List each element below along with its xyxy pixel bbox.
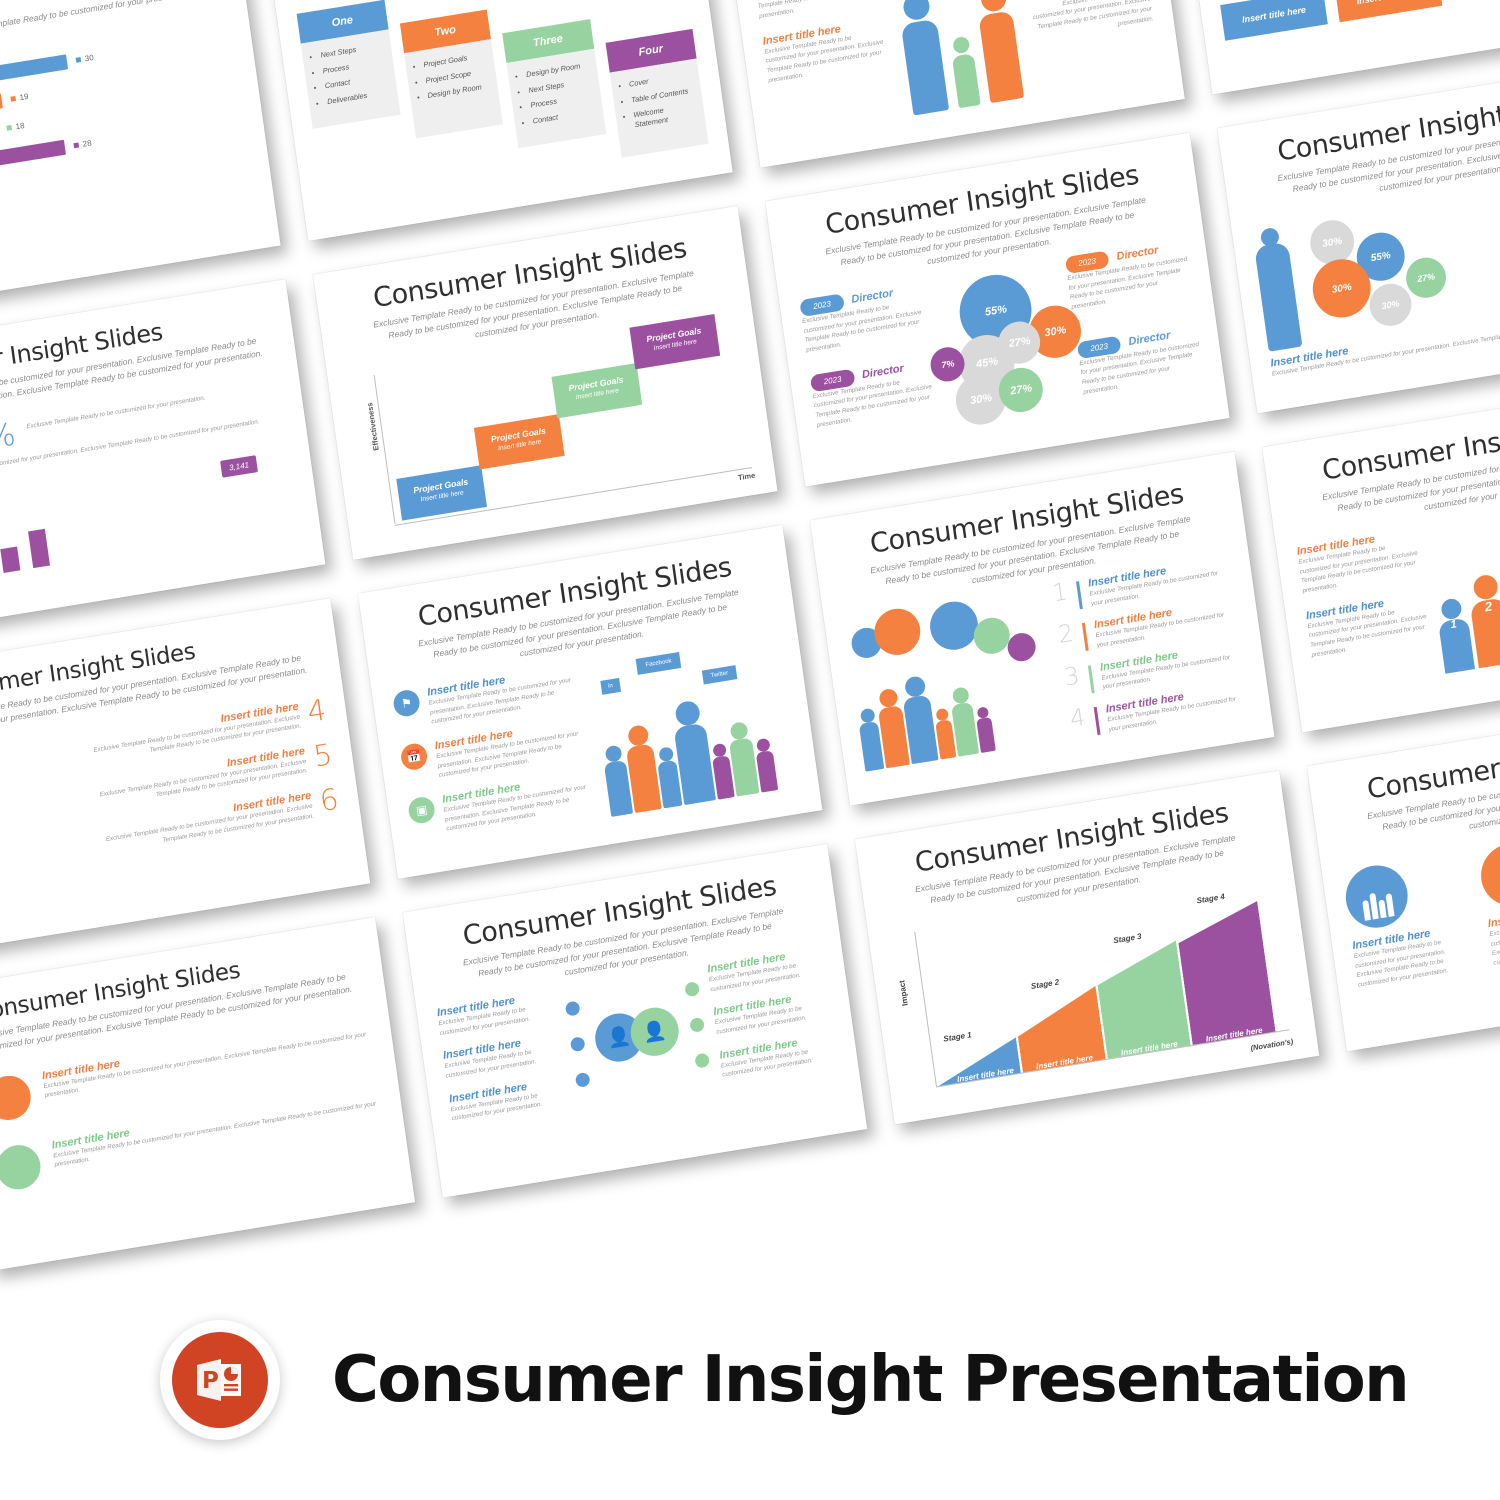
slide-thumbnail-cover-flow[interactable]: Consumer Insight Slides Exclusive Templa… [1172, 0, 1500, 95]
column-three[interactable]: Three Design by Room Next Steps Process … [502, 19, 606, 148]
slide-thumbnail-staircase[interactable]: Consumer Insight Slides Exclusive Templa… [313, 206, 778, 560]
caption-body: Exclusive Template Ready to be customize… [1030, 0, 1154, 42]
people-group-icon [1342, 861, 1412, 932]
businessman-silhouette-icon [1252, 224, 1303, 352]
bar-label: 30 [75, 53, 94, 65]
stage-2-label: Stage 2 [1030, 978, 1059, 991]
item-number: 5 [312, 741, 334, 770]
silhouette-1[interactable]: 1 [1435, 597, 1475, 674]
accent-circle [0, 1072, 33, 1123]
people-group-icon [1477, 839, 1500, 910]
slide-thumbnail-bubble-director[interactable]: Consumer Insight Slides Exclusive Templa… [765, 133, 1230, 487]
bar-label: 18 [6, 121, 25, 133]
stage-3-label: Stage 3 [1113, 932, 1142, 945]
people-bubbles-graphic [844, 586, 1062, 776]
mindmap-center: 👤 👤 [592, 1004, 682, 1065]
cover-button[interactable]: Insert title here [1220, 0, 1328, 41]
stamp-icon: ▣ [407, 795, 436, 825]
bubble-30-grey2: 30% [1367, 281, 1414, 329]
item-number: 4 [306, 696, 328, 725]
stage-4-label: Stage 4 [1196, 892, 1225, 905]
child-figure-icon [949, 36, 980, 109]
slide-thumbnail-social-people[interactable]: Consumer Insight Slides Exclusive Templa… [358, 525, 823, 879]
bubble-cluster-chart: 55% 30% 27% 45% 7% 30% 27% [917, 256, 1087, 438]
people-group-graphic: in Facebook Twitter [589, 630, 799, 820]
svg-text:P: P [202, 1368, 219, 1394]
item-accent-bar [1088, 665, 1095, 693]
item-accent-bar [1076, 581, 1083, 609]
step-2[interactable]: Project Goals Insert title here [474, 414, 565, 469]
presentation-preview-canvas: Exclusive Template Ready to be customize… [0, 0, 1500, 1500]
bar-label: 19 [10, 92, 29, 104]
man-figure-icon [897, 0, 949, 116]
slide-thumbnail-numbered-silhouettes[interactable]: Consumer Insight Slides Exclusive Templa… [1262, 378, 1500, 732]
accent-circle [0, 1141, 43, 1192]
brand-footer: P Consumer Insight Presentation [0, 1260, 1500, 1500]
node-dot [569, 1036, 585, 1052]
item-title: Insert title here [1487, 900, 1500, 930]
node-dot [694, 1053, 710, 1069]
y-axis-label: Impact [897, 980, 909, 1007]
item-number: 2 [1057, 623, 1075, 646]
node-dot [574, 1072, 590, 1088]
slide-thumbnail-grid: Exclusive Template Ready to be customize… [0, 0, 1500, 1283]
column-body: Project Goals Project Scope Design by Ro… [404, 39, 503, 138]
powerpoint-badge: P [160, 1320, 280, 1440]
powerpoint-glyph: P [191, 1351, 249, 1409]
group-item[interactable]: Insert title here Exclusive Template Rea… [1342, 853, 1473, 991]
caption-body: Exclusive Template Ready to be customize… [755, 0, 879, 22]
slide-thumbnail-mindmap[interactable]: Consumer Insight Slides Exclusive Templa… [403, 844, 868, 1198]
item-accent-bar [1093, 707, 1100, 735]
item-number: 4 [1069, 707, 1087, 730]
item-number: 6 [318, 785, 340, 814]
horizontal-bar-chart: 30 19 18 28 [0, 28, 244, 188]
item-number: 3 [1063, 665, 1081, 688]
flag-icon: ⚑ [392, 689, 421, 719]
bar-purple [0, 140, 66, 186]
column-body: Next Steps Process Contact Deliverables [301, 29, 400, 128]
bubble-cluster-chart: 30% 55% 30% 27% 30% [1303, 197, 1469, 350]
list-item: Design by Room [427, 81, 490, 101]
group-item[interactable]: Insert title here Exclusive Template Rea… [1477, 831, 1500, 969]
speech-bubble-linkedin: in [600, 678, 620, 695]
numbered-silhouette-group: 1 2 3 [1425, 501, 1500, 674]
cover-button[interactable]: Insert title here [1335, 0, 1443, 23]
x-axis-label: (Novation's) [1250, 1037, 1294, 1053]
item-accent-bar [1082, 623, 1089, 651]
slide-thumbnail-bar-chart[interactable]: Exclusive Template Ready to be customize… [0, 0, 281, 314]
bar [28, 528, 50, 568]
speech-bubble-facebook: Facebook [636, 652, 682, 675]
powerpoint-icon: P [172, 1332, 268, 1428]
slide-thumbnail-text-columns[interactable]: Consumer Insight Slides Exclusive Templa… [0, 917, 415, 1271]
page-title: Consumer Insight Presentation [332, 1343, 1408, 1417]
step-4[interactable]: Project Goals Insert title here [629, 314, 720, 369]
bar [0, 546, 20, 573]
slide-thumbnail-grid-wrapper: Exclusive Template Ready to be customize… [0, 0, 1500, 1338]
list-item: Contact [532, 106, 595, 126]
speech-bubble-twitter: Twitter [702, 665, 737, 684]
node-dot [689, 1017, 705, 1033]
slide-thumbnail-stage-ramp[interactable]: Consumer Insight Slides Exclusive Templa… [855, 771, 1320, 1125]
bar-label: 28 [73, 138, 92, 150]
bubble-27: 27% [1404, 255, 1449, 301]
calendar-icon: 📅 [399, 742, 428, 772]
step-3[interactable]: Project Goals Insert title here [552, 363, 643, 418]
slide-thumbnail-four-columns[interactable]: One Next Steps Process Contact Deliverab… [268, 0, 733, 241]
stage-1-label: Stage 1 [943, 1030, 972, 1043]
slide-thumbnail-percent-stat[interactable]: Consumer Insight Slides Exclusive Templa… [0, 279, 325, 633]
node-dot [684, 981, 700, 997]
column-body: Cover Table of Contents Welcome Statemen… [609, 59, 708, 158]
list-item: Deliverables [326, 87, 389, 107]
column-one[interactable]: One Next Steps Process Contact Deliverab… [297, 0, 401, 129]
node-dot [564, 1001, 580, 1017]
column-four[interactable]: Four Cover Table of Contents Welcome Sta… [605, 29, 709, 158]
y-axis [914, 932, 937, 1087]
item-number: 1 [1051, 581, 1069, 604]
slide-thumbnail-group-circles[interactable]: Consumer Insight Slides Exclusive Templa… [1307, 697, 1500, 1051]
slide-thumbnail-businessman-bubbles[interactable]: Consumer Insight Slides Exclusive Templa… [1217, 59, 1500, 413]
woman-figure-icon [975, 0, 1025, 103]
slide-thumbnail-numbered-1234[interactable]: Consumer Insight Slides Exclusive Templa… [810, 452, 1275, 806]
column-two[interactable]: Two Project Goals Project Scope Design b… [399, 9, 503, 138]
family-figure-group [874, 0, 1043, 119]
stage-4-shape[interactable] [1174, 901, 1275, 1045]
x-axis-label: Time [737, 471, 755, 483]
list-item: Welcome Statement [633, 101, 697, 130]
four-column-group: One Next Steps Process Contact Deliverab… [297, 0, 709, 206]
column-body: Design by Room Next Steps Process Contac… [506, 49, 605, 148]
slide-thumbnail-numbered-456[interactable]: Consumer Insight Slides Exclusive Templa… [0, 598, 370, 952]
slide-thumbnail-family-figures[interactable]: Consumer Insight Slides Exclusive Templa… [720, 0, 1185, 168]
